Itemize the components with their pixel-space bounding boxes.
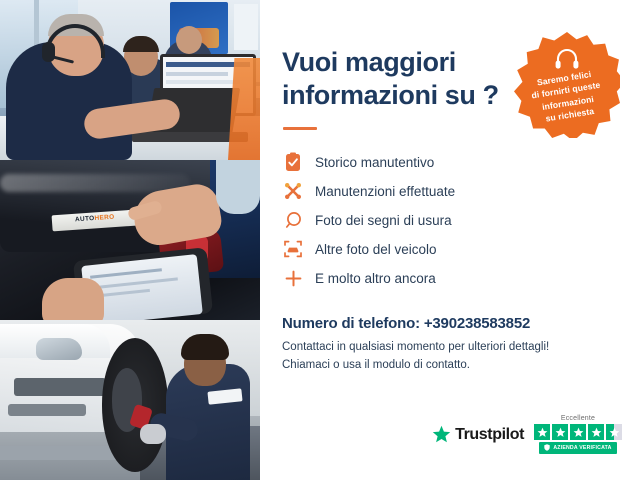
list-item-label: Manutenzioni effettuate [315,184,455,199]
list-item: Manutenzioni effettuate [282,177,640,206]
trustpilot-star-icon [432,425,451,444]
star-half [606,424,622,440]
tablet-holding-hand-decor [42,278,104,320]
phone-line: Numero di telefono: +390238583852 [282,315,640,332]
list-item: Foto dei segni di usura [282,206,640,235]
contact-block: Numero di telefono: +390238583852 Contat… [282,315,640,375]
list-item: Altre foto del veicolo [282,235,640,264]
wrench-tools-icon [282,180,304,202]
car-headlight-decor [36,338,82,360]
headline-line-two: informazioni su ? [282,80,499,110]
vehicle-inspection-photo: AUTOHERO [0,160,260,320]
photo-column: AUTOHERO [0,0,260,480]
page-title: Vuoi maggiori informazioni su ? [282,46,522,112]
headline-line-one: Vuoi maggiori [282,47,456,77]
list-item-label: Foto dei segni di usura [315,213,452,228]
trustpilot-logo: Trustpilot [432,425,524,444]
promo-banner: AUTOHERO [0,0,640,480]
mechanic-glove-decor [140,424,166,444]
mechanic-hair-decor [181,334,229,360]
star-filled [534,424,550,440]
list-item: E molto altro ancora [282,264,640,293]
star-filled [588,424,604,440]
status-badge: AZIENDA VERIFICATA [539,442,616,454]
rating-label: Eccellente [561,415,595,422]
contact-subtext-line-one: Contattaci in qualsiasi momento per ulte… [282,341,549,353]
agent-three-head [176,26,202,54]
inspector-sleeve-decor [216,160,260,214]
list-item-label: Storico manutentivo [315,155,434,170]
star-filled [570,424,586,440]
car-scan-icon [282,238,304,260]
monitor-line-two [166,72,228,76]
brand-text-hero: HERO [94,214,114,222]
info-on-request-badge: Saremo felici di fornirti queste informa… [514,32,620,138]
magnifier-icon [282,209,304,231]
verified-label: AZIENDA VERIFICATA [553,445,611,451]
clipboard-check-icon [282,151,304,173]
shield-check-icon [544,444,550,453]
monitor-line-three [166,80,240,84]
feature-list: Storico manutentivo Manutenzi [282,148,640,293]
trustpilot-widget[interactable]: Trustpilot Eccellente AZIENDA VERIFICATA [432,415,622,454]
contact-subtext-line-two: Chiamaci o usa il modulo di contatto. [282,359,470,371]
workshop-mechanic-photo [0,320,260,480]
list-item-label: E molto altro ancora [315,271,436,286]
headset-earcup-decor [42,42,55,62]
contact-subtext: Contattaci in qualsiasi momento per ulte… [282,339,640,375]
content-panel: Vuoi maggiori informazioni su ? Storico … [260,0,640,480]
brand-text-auto: AUTO [75,215,95,223]
star-rating [534,424,622,440]
trustpilot-rating: Eccellente AZIENDA VERIFICATA [534,415,622,454]
title-underline-rule [283,127,317,130]
car-lift-arm-decor [0,446,120,460]
wall-sheet-decor [234,4,258,50]
phone-label: Numero di telefono: [282,315,420,332]
star-filled [552,424,568,440]
car-grille-decor [14,378,106,396]
trustpilot-name: Trustpilot [455,426,524,444]
list-item-label: Altre foto del veicolo [315,242,437,257]
list-item: Storico manutentivo [282,148,640,177]
phone-number[interactable]: +390238583852 [424,315,530,332]
car-lower-grille-decor [8,404,86,416]
call-center-agents-photo [0,0,260,160]
plus-icon [282,267,304,289]
